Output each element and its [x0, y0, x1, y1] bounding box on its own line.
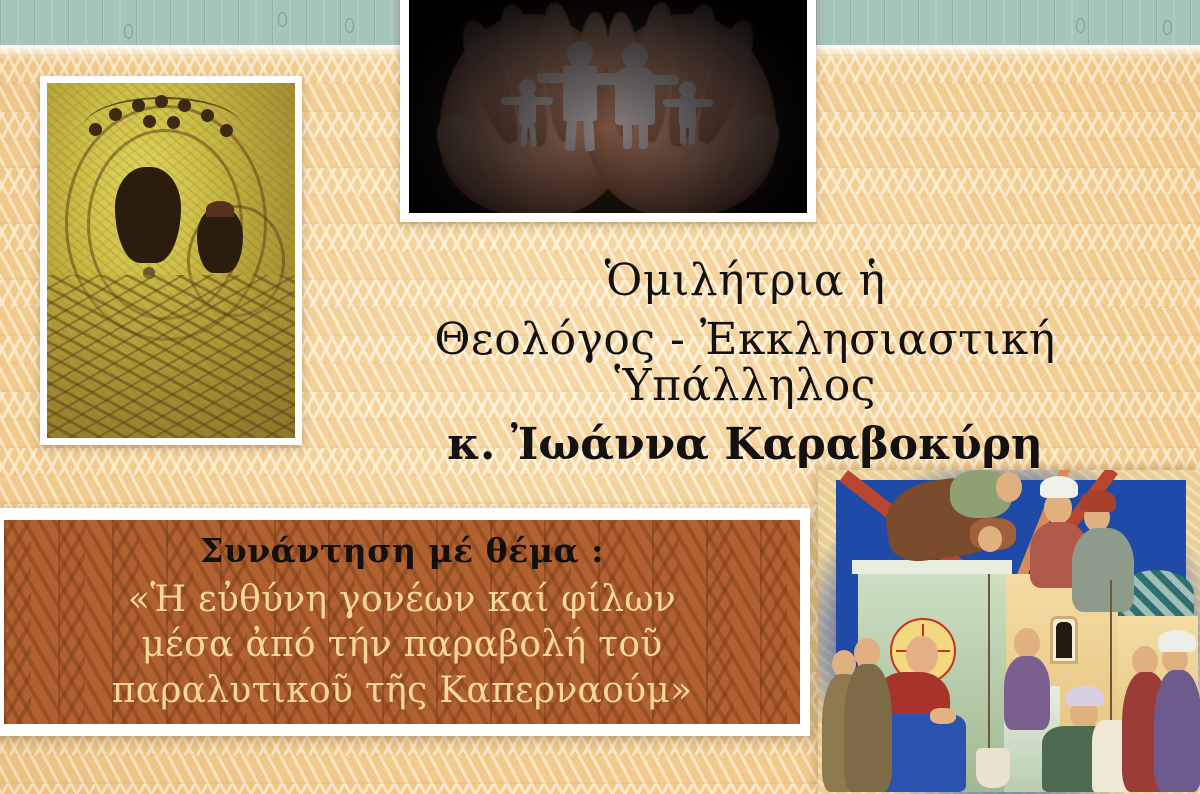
theme-banner: Συνάντηση μέ θέμα : «Ἡ εὐθύνη γονέων καί… [0, 508, 810, 736]
healing-of-the-paralytic-icon [818, 470, 1200, 794]
headline-speaker-name: κ. Ἰωάννα Καραβοκύρη [300, 422, 1190, 469]
banner-title: Συνάντηση μέ θέμα : [4, 531, 800, 570]
hands-holding-paper-family-photo [400, 0, 816, 222]
banner-theme-line-2: μέσα ἀπό τήν παραβολή τοῦ [4, 622, 800, 667]
headline-line-2: Θεολόγος - Ἐκκλησιαστική Ὑπάλληλος [300, 317, 1190, 410]
banner-theme-line-3: παραλυτικοῦ τῆς Καπερναούμ» [4, 668, 800, 713]
banner-theme-line-1: «Ἡ εὐθύνη γονέων καί φίλων [4, 577, 800, 622]
poster-canvas: Ὁμιλήτρια ἡ Θεολόγος - Ἐκκλησιαστική Ὑπά… [0, 0, 1200, 794]
headline-line-1: Ὁμιλήτρια ἡ [300, 258, 1190, 305]
golden-theotokos-icon [40, 76, 302, 445]
speaker-headline: Ὁμιλήτρια ἡ Θεολόγος - Ἐκκλησιαστική Ὑπά… [300, 258, 1190, 469]
